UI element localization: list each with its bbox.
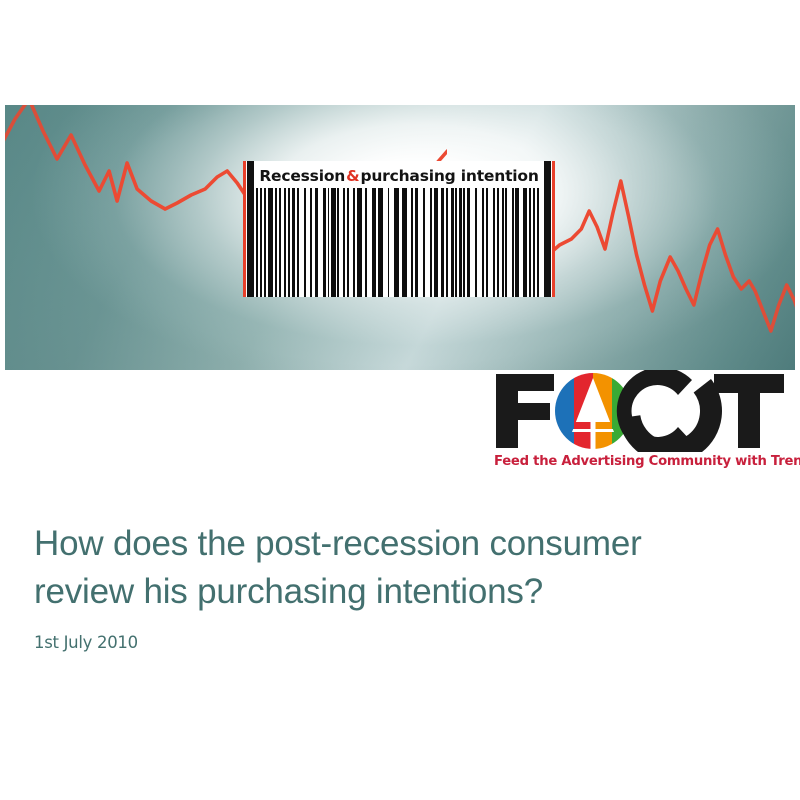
title-block: How does the post-recession consumer rev… xyxy=(34,520,764,652)
barcode-graphic: Recession & purchasing intention xyxy=(243,161,555,297)
presentation-slide: Recession & purchasing intention xyxy=(0,0,800,800)
barcode-bars xyxy=(256,188,542,297)
slide-title-line-2: review his purchasing intentions? xyxy=(34,572,543,611)
slide-title-line-1: How does the post-recession consumer xyxy=(34,524,642,563)
fact-wordmark xyxy=(492,370,792,452)
barcode-bar-guard-right xyxy=(544,161,551,297)
barcode-space xyxy=(539,188,541,297)
barcode-guard-left xyxy=(243,161,246,297)
logo-letter-f xyxy=(496,374,554,448)
barcode-title-ampersand: & xyxy=(345,167,360,185)
slide-title: How does the post-recession consumer rev… xyxy=(34,520,764,617)
fact-logo: Feed the Advertising Community with Tren… xyxy=(492,370,792,480)
barcode-title-part-1: Recession xyxy=(259,167,345,185)
barcode-title-part-2: purchasing intention xyxy=(360,167,538,185)
logo-letter-c xyxy=(612,370,727,452)
barcode-bar-guard-left xyxy=(247,161,254,297)
barcode-guard-right xyxy=(552,161,555,297)
slide-date: 1st July 2010 xyxy=(34,633,764,652)
fact-tagline: Feed the Advertising Community with Tren… xyxy=(494,454,792,469)
logo-letter-t xyxy=(714,374,784,448)
barcode-title-text: Recession & purchasing intention xyxy=(257,164,541,188)
